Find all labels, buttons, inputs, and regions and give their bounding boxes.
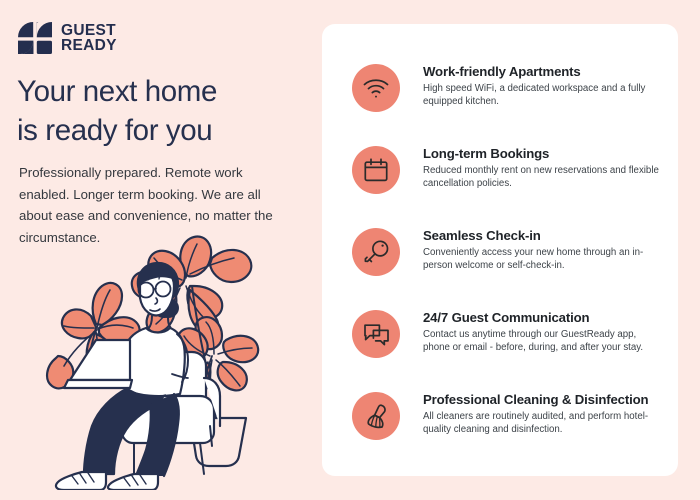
- promo-page: Guest Ready Your next home is ready for …: [0, 0, 700, 500]
- feature-text: Professional Cleaning & Disinfection All…: [400, 390, 664, 437]
- feature-item-seamless-check-in[interactable]: Seamless Check-in Conveniently access yo…: [352, 226, 664, 276]
- broom-icon: [352, 392, 400, 440]
- wifi-icon: [352, 64, 400, 112]
- feature-title: Work-friendly Apartments: [423, 63, 664, 80]
- chat-bubbles-icon: [352, 310, 400, 358]
- features-card: Work-friendly Apartments High speed WiFi…: [322, 24, 678, 476]
- key-icon: [352, 228, 400, 276]
- guestready-logomark-icon: [18, 22, 52, 54]
- feature-item-work-friendly-apartments[interactable]: Work-friendly Apartments High speed WiFi…: [352, 62, 664, 112]
- feature-text: Long-term Bookings Reduced monthly rent …: [400, 144, 664, 191]
- hero-illustration: [34, 228, 310, 490]
- feature-description: Contact us anytime through our GuestRead…: [423, 329, 664, 355]
- brand-wordmark: Guest Ready: [61, 23, 117, 54]
- brand-name-line2: Ready: [61, 38, 117, 54]
- feature-text: 24/7 Guest Communication Contact us anyt…: [400, 308, 664, 355]
- feature-item-professional-cleaning[interactable]: Professional Cleaning & Disinfection All…: [352, 390, 664, 440]
- feature-title: Long-term Bookings: [423, 145, 664, 162]
- feature-text: Work-friendly Apartments High speed WiFi…: [400, 62, 664, 109]
- feature-title: Seamless Check-in: [423, 227, 664, 244]
- feature-title: Professional Cleaning & Disinfection: [423, 391, 664, 408]
- feature-description: High speed WiFi, a dedicated workspace a…: [423, 83, 664, 109]
- calendar-icon: [352, 146, 400, 194]
- feature-description: Conveniently access your new home throug…: [423, 247, 664, 273]
- page-title-line1: Your next home: [17, 72, 307, 111]
- left-column: Guest Ready Your next home is ready for …: [0, 0, 320, 500]
- feature-title: 24/7 Guest Communication: [423, 309, 664, 326]
- feature-description: Reduced monthly rent on new reservations…: [423, 165, 664, 191]
- page-title: Your next home is ready for you: [17, 72, 307, 150]
- brand-name-line1: Guest: [61, 23, 117, 39]
- feature-text: Seamless Check-in Conveniently access yo…: [400, 226, 664, 273]
- page-title-line2: is ready for you: [17, 111, 307, 150]
- brand-logo[interactable]: Guest Ready: [18, 22, 117, 54]
- feature-item-long-term-bookings[interactable]: Long-term Bookings Reduced monthly rent …: [352, 144, 664, 194]
- feature-description: All cleaners are routinely audited, and …: [423, 411, 664, 437]
- feature-item-guest-communication[interactable]: 24/7 Guest Communication Contact us anyt…: [352, 308, 664, 358]
